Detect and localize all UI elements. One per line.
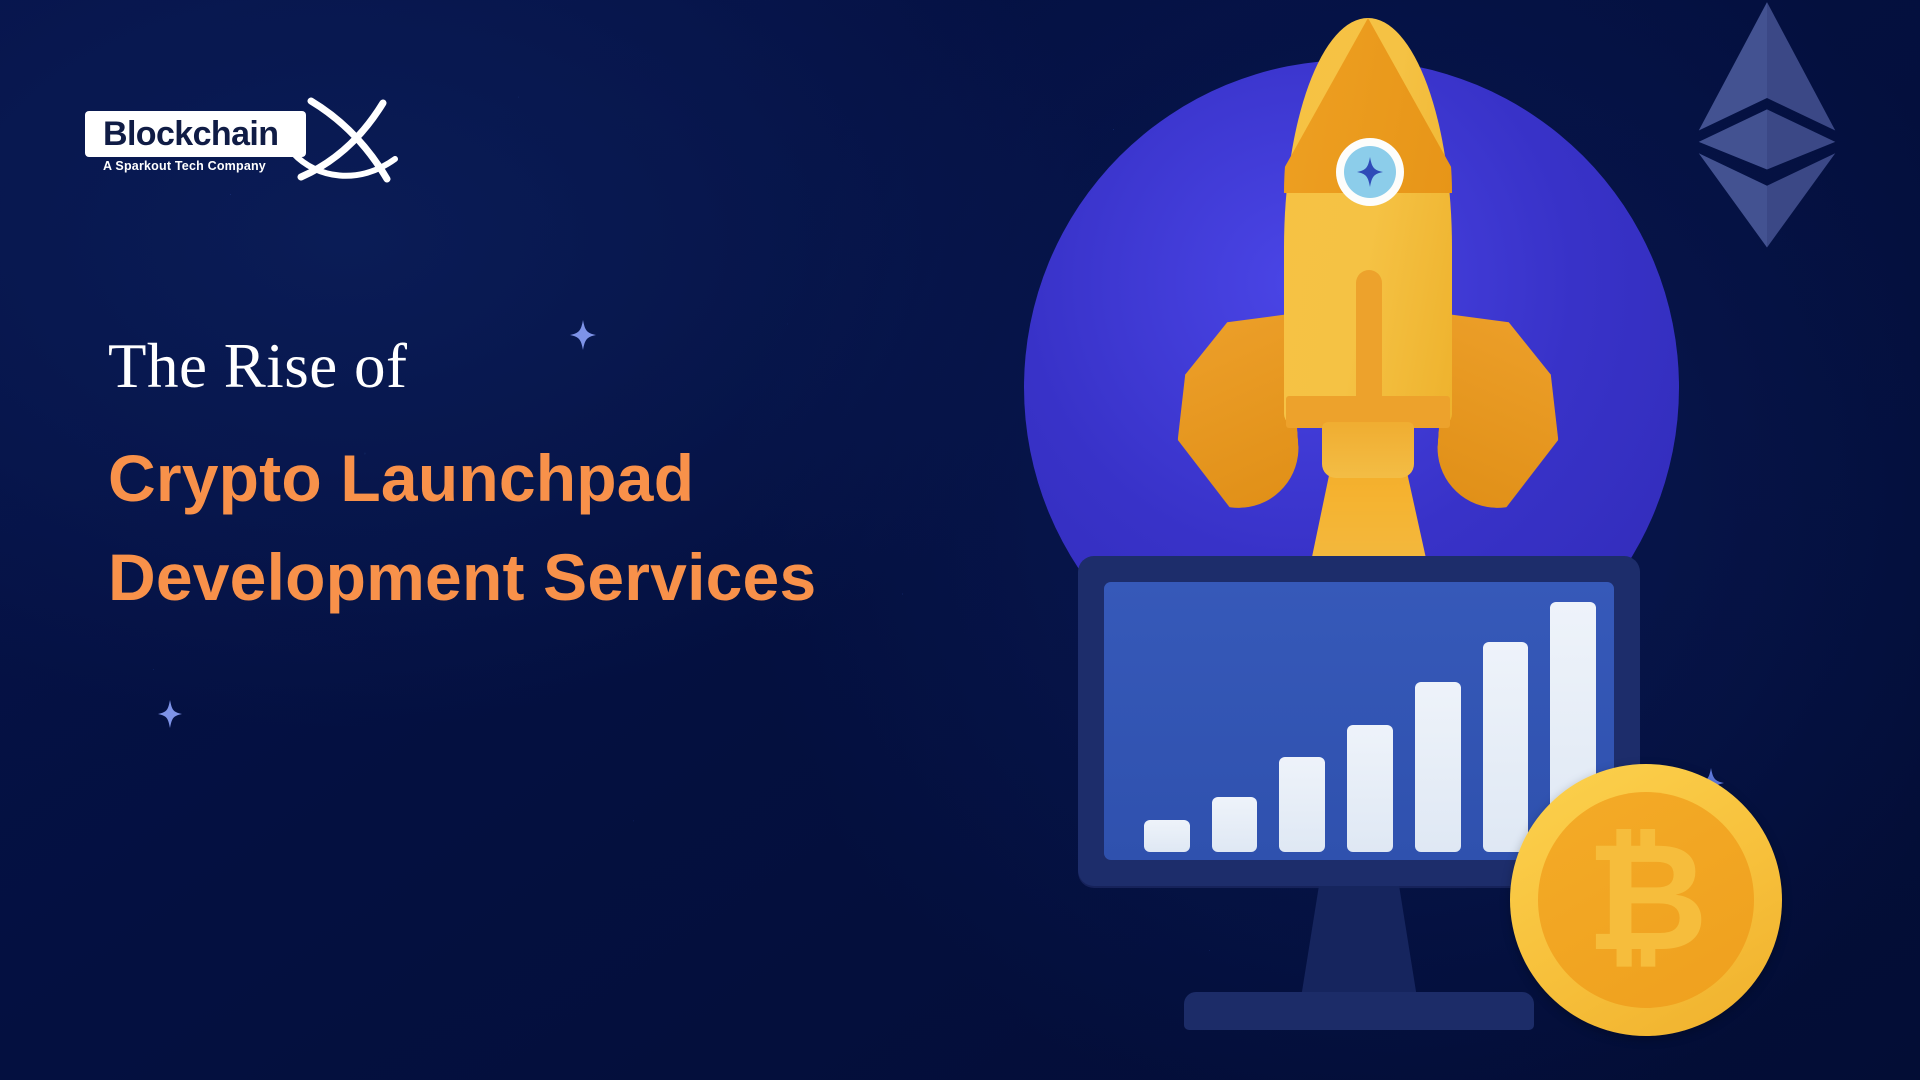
headline-block: The Rise of Crypto Launchpad Development…	[108, 330, 1068, 627]
monitor-base	[1184, 992, 1534, 1030]
chart-bar	[1212, 797, 1258, 852]
sparkle-top-left-text-icon	[570, 320, 596, 350]
chart-bar	[1347, 725, 1393, 853]
monitor-neck	[1300, 886, 1418, 1004]
bitcoin-symbol: ₿	[1586, 822, 1706, 972]
logo-x-mark	[287, 93, 405, 189]
bitcoin-coin: ₿	[1510, 764, 1782, 1036]
chart-bar	[1483, 642, 1529, 852]
logo-blockchainx[interactable]: Blockchain A Sparkout Tech Company	[85, 95, 385, 187]
headline-line-3: Development Services	[108, 528, 1068, 627]
crypto-launchpad-illustration: ₿	[1010, 0, 1920, 1080]
headline-line-2: Crypto Launchpad	[108, 429, 1068, 528]
rocket	[1238, 18, 1498, 498]
logo-tagline: A Sparkout Tech Company	[103, 159, 266, 173]
bitcoin-coin-inner: ₿	[1538, 792, 1754, 1008]
rocket-window	[1336, 138, 1404, 206]
window-star-icon	[1357, 157, 1383, 187]
logo-wordmark: Blockchain	[103, 115, 278, 153]
hero-banner: Blockchain A Sparkout Tech Company The R…	[0, 0, 1920, 1080]
chart-bar	[1144, 820, 1190, 853]
chart-bar	[1415, 682, 1461, 852]
rocket-window-glass	[1344, 146, 1396, 198]
sparkle-lower-left-icon	[158, 700, 182, 728]
chart-bar	[1279, 757, 1325, 852]
bar-chart	[1144, 602, 1596, 852]
rocket-center-stripe	[1356, 270, 1382, 440]
rocket-nozzle	[1322, 422, 1414, 478]
logo-plate: Blockchain	[85, 111, 306, 157]
